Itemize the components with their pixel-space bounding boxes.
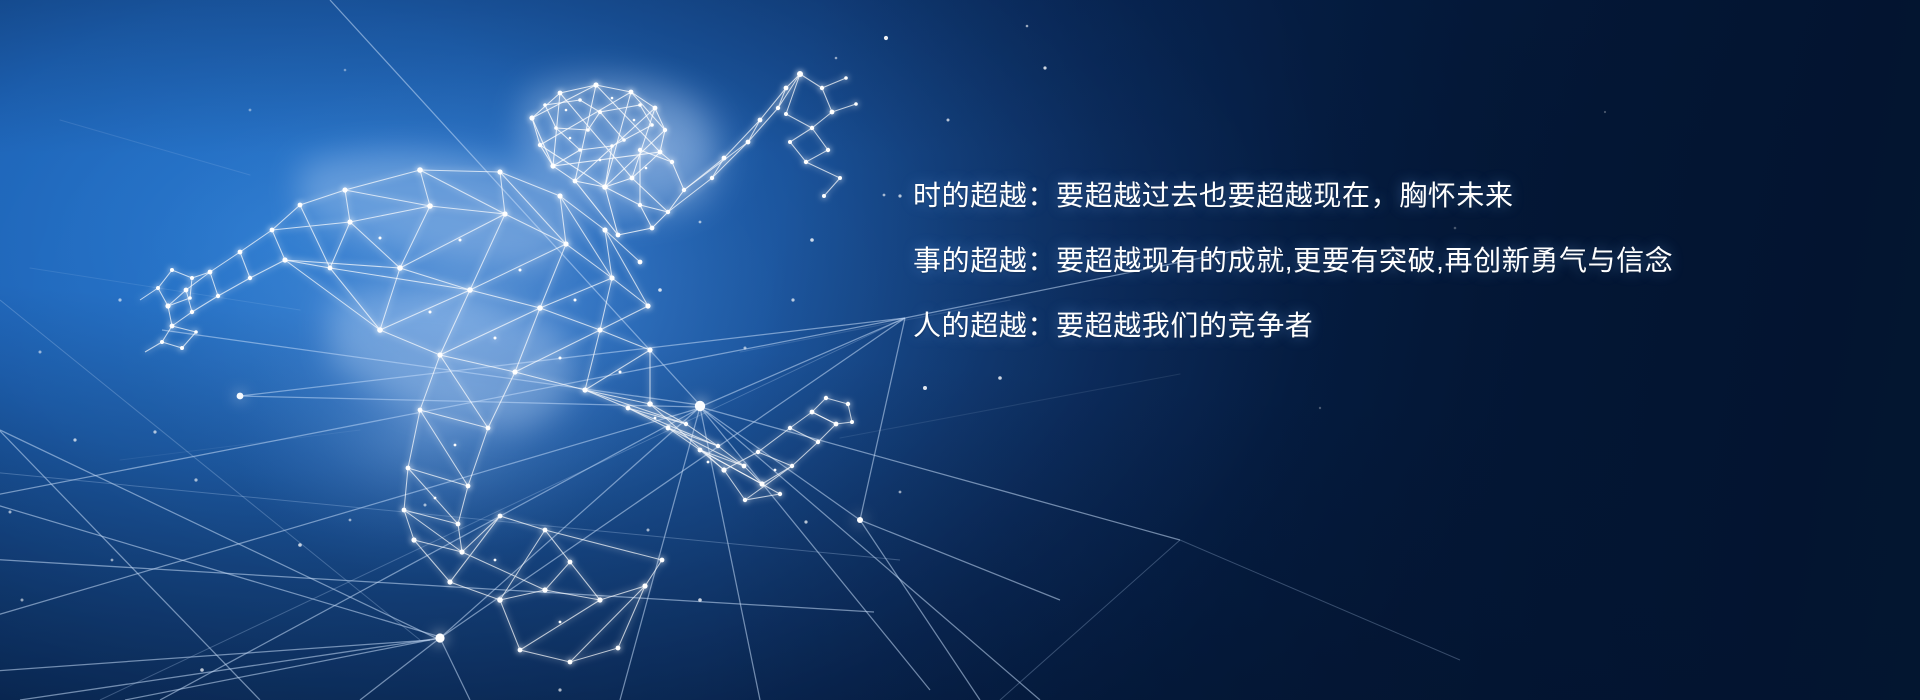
tagline-people: 人的超越：要超越我们的竞争者 xyxy=(913,312,1833,340)
tagline-matter: 事的超越：要超越现有的成就,更要有突破,再创新勇气与信念 xyxy=(913,247,1833,275)
hero-banner: 时的超越：要超越过去也要超越现在，胸怀未来 事的超越：要超越现有的成就,更要有突… xyxy=(0,0,1920,700)
light-streaks xyxy=(0,0,1920,700)
tagline-time: 时的超越：要超越过去也要超越现在，胸怀未来 xyxy=(913,182,1833,210)
tagline-group: 时的超越：要超越过去也要超越现在，胸怀未来 事的超越：要超越现有的成就,更要有突… xyxy=(913,182,1833,340)
